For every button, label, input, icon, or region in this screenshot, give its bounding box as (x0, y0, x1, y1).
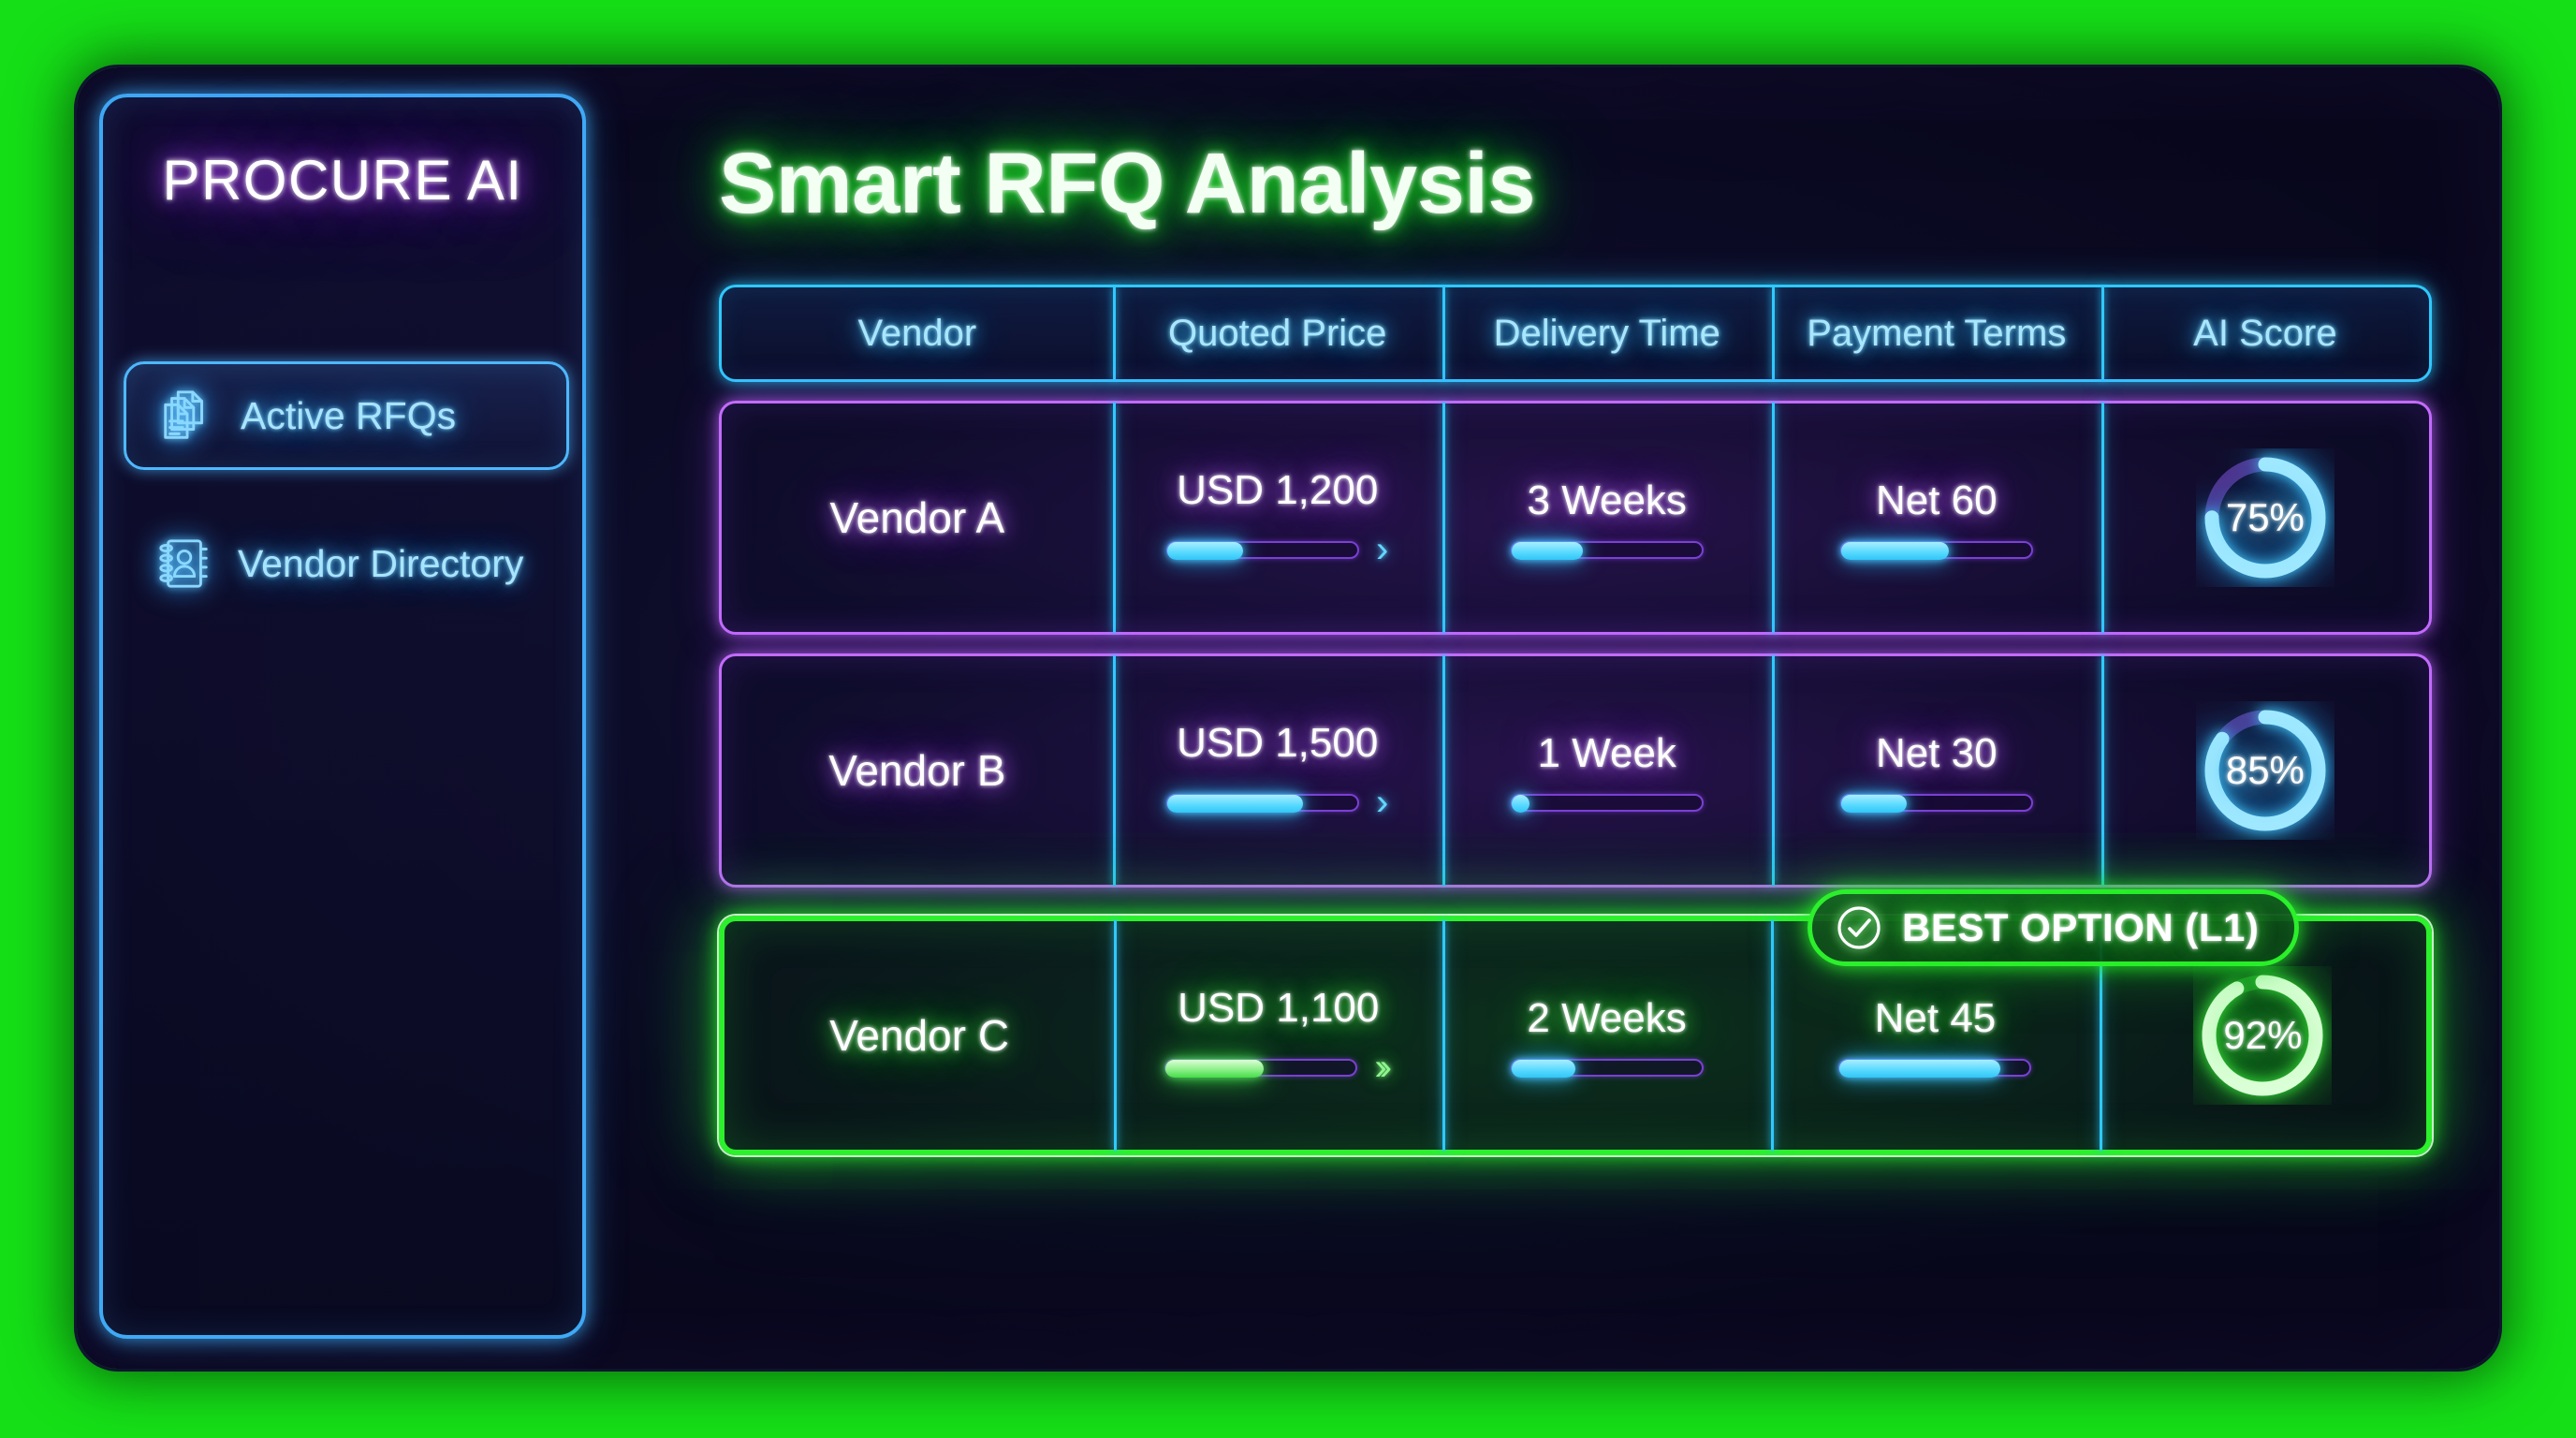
progress-track (1511, 794, 1704, 812)
table-header-row: Vendor Quoted Price Delivery Time Paymen… (719, 285, 2432, 382)
delivery-bar (1511, 794, 1704, 812)
payment-bar (1840, 541, 2033, 559)
rfq-analysis-table: Vendor Quoted Price Delivery Time Paymen… (719, 285, 2432, 1155)
progress-track (1164, 1059, 1357, 1077)
cell-vendor: Vendor C (724, 921, 1114, 1150)
ai-score-value: 92% (2193, 966, 2332, 1105)
column-header-ai-score[interactable]: AI Score (2101, 287, 2429, 379)
cell-payment-terms: Net 30 (1772, 656, 2101, 885)
check-circle-icon (1835, 903, 1883, 952)
ai-score-donut: 75% (2196, 448, 2334, 587)
cell-delivery-time: 3 Weeks (1442, 404, 1772, 632)
documents-icon (158, 387, 216, 445)
ai-score-donut: 92% (2193, 966, 2332, 1105)
progress-fill (1512, 1060, 1576, 1078)
progress-track (1511, 1059, 1704, 1077)
cell-delivery-time: 1 Week (1442, 656, 1772, 885)
status-badge[interactable]: BEST OPTION (L1) (1808, 889, 2299, 966)
table-row[interactable]: Vendor B USD 1,500 › 1 Week (719, 653, 2432, 888)
progress-track (1838, 1059, 2031, 1077)
payment-bar (1838, 1059, 2031, 1077)
progress-track (1840, 794, 2033, 812)
payment-bar (1840, 794, 2033, 812)
column-header-quoted-price[interactable]: Quoted Price (1113, 287, 1442, 379)
sidebar-item-active-rfqs[interactable]: Active RFQs (124, 361, 569, 470)
delivery-bar (1511, 1059, 1704, 1077)
sidebar-item-label: Vendor Directory (238, 542, 523, 586)
ai-score-donut: 85% (2196, 701, 2334, 840)
column-header-payment-terms[interactable]: Payment Terms (1772, 287, 2101, 379)
main-content: Smart RFQ Analysis Vendor Quoted Price D… (633, 67, 2499, 1369)
progress-track (1166, 541, 1359, 559)
progress-fill (1841, 795, 1908, 813)
price-bar: › (1166, 531, 1388, 568)
brand-title: PROCURE AI (103, 148, 582, 213)
price-bar: ›› (1164, 1049, 1392, 1086)
sidebar-item-vendor-directory[interactable]: Vendor Directory (124, 509, 569, 618)
progress-track (1511, 541, 1704, 559)
progress-fill (1839, 1060, 2000, 1078)
progress-fill (1167, 542, 1243, 560)
ai-score-value: 75% (2196, 448, 2334, 587)
expand-chevron-icon[interactable]: › (1376, 784, 1388, 821)
progress-fill (1512, 795, 1529, 813)
app-panel: PROCURE AI Active RFQs (77, 67, 2499, 1369)
cell-ai-score: 85% (2101, 656, 2429, 885)
cell-quoted-price: USD 1,500 › (1113, 656, 1442, 885)
progress-fill (1167, 795, 1303, 813)
address-book-icon (155, 535, 213, 593)
expand-chevron-icon[interactable]: ›› (1374, 1049, 1392, 1086)
cell-vendor: Vendor B (722, 656, 1113, 885)
sidebar-item-label: Active RFQs (241, 394, 456, 438)
sidebar: PROCURE AI Active RFQs (99, 94, 586, 1339)
table-row[interactable]: Vendor A USD 1,200 › 3 Weeks (719, 401, 2432, 635)
progress-fill (1841, 542, 1949, 560)
cell-quoted-price: USD 1,100 ›› (1114, 921, 1442, 1150)
progress-fill (1512, 542, 1584, 560)
progress-track (1166, 794, 1359, 812)
ai-score-value: 85% (2196, 701, 2334, 840)
cell-payment-terms: Net 60 (1772, 404, 2101, 632)
cell-vendor: Vendor A (722, 404, 1113, 632)
expand-chevron-icon[interactable]: › (1376, 531, 1388, 568)
price-bar: › (1166, 784, 1388, 821)
column-header-delivery-time[interactable]: Delivery Time (1442, 287, 1772, 379)
page-title: Smart RFQ Analysis (719, 135, 1535, 233)
progress-fill (1165, 1060, 1264, 1078)
cell-quoted-price: USD 1,200 › (1113, 404, 1442, 632)
delivery-bar (1511, 541, 1704, 559)
cell-ai-score: 75% (2101, 404, 2429, 632)
cell-delivery-time: 2 Weeks (1442, 921, 1771, 1150)
column-header-vendor[interactable]: Vendor (722, 287, 1113, 379)
status-badge-label: BEST OPTION (L1) (1902, 905, 2259, 950)
progress-track (1840, 541, 2033, 559)
